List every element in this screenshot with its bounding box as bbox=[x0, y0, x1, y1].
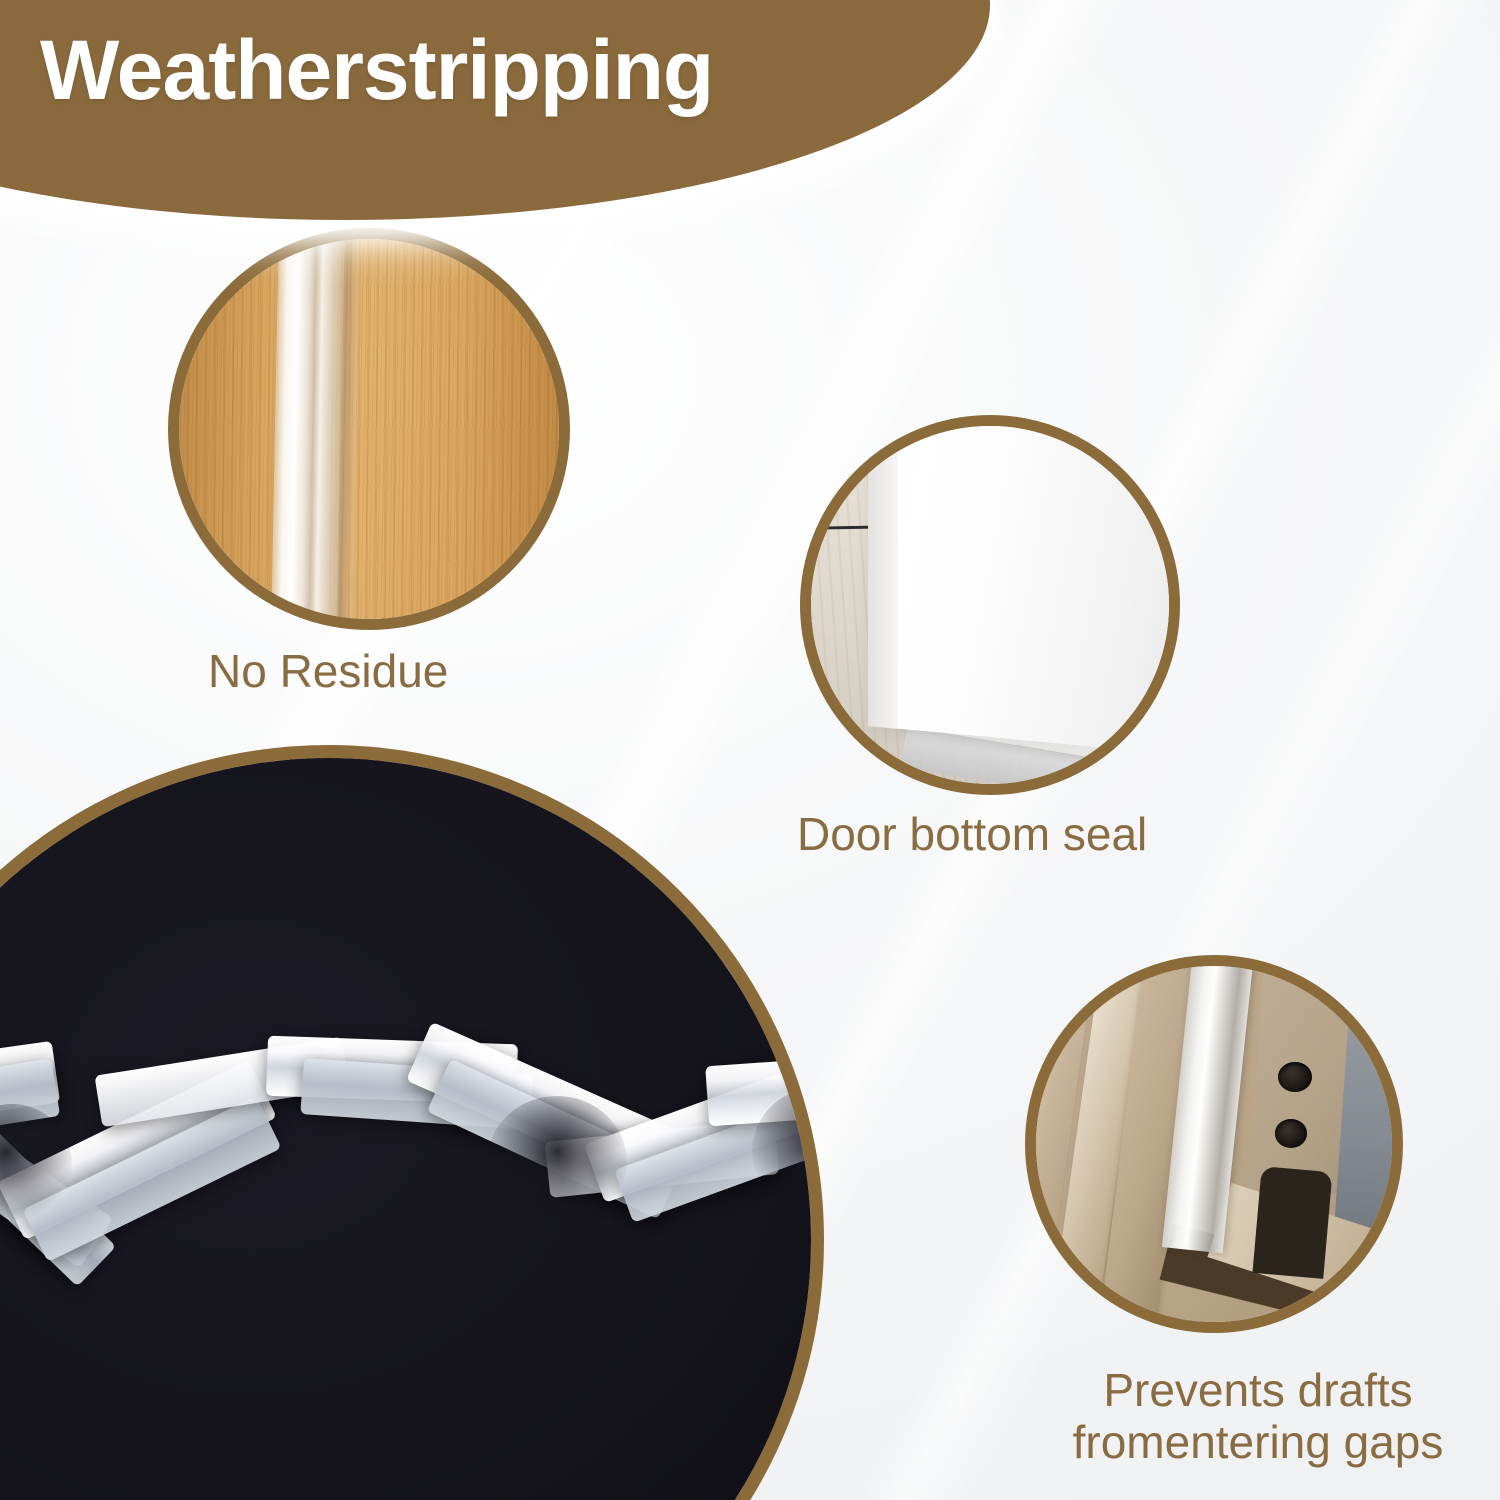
caption-line-1: Prevents drafts bbox=[998, 1364, 1500, 1416]
feature-image-product-coil bbox=[0, 745, 824, 1500]
white-door-edge bbox=[868, 415, 898, 730]
screw-hole-lower bbox=[1275, 1119, 1307, 1147]
frame-slot bbox=[1252, 1166, 1332, 1279]
feature-caption-no-residue: No Residue bbox=[208, 645, 448, 697]
screw-hole-upper bbox=[1278, 1062, 1312, 1092]
silicone-strip bbox=[271, 228, 347, 630]
feature-image-no-residue bbox=[168, 228, 570, 630]
caption-line-2: fromentering gaps bbox=[998, 1416, 1500, 1468]
feature-caption-door-bottom-seal: Door bottom seal bbox=[797, 808, 1147, 860]
page-title: Weatherstripping bbox=[40, 22, 713, 119]
feature-caption-prevents-drafts: Prevents drafts fromentering gaps bbox=[998, 1364, 1500, 1469]
white-door-face bbox=[868, 415, 1169, 754]
feature-image-door-bottom-seal bbox=[800, 415, 1180, 795]
wood-shadow-right bbox=[460, 239, 559, 619]
infographic-canvas: Weatherstripping No Residue Door bottom … bbox=[0, 0, 1500, 1500]
feature-image-prevents-drafts bbox=[1025, 955, 1403, 1333]
